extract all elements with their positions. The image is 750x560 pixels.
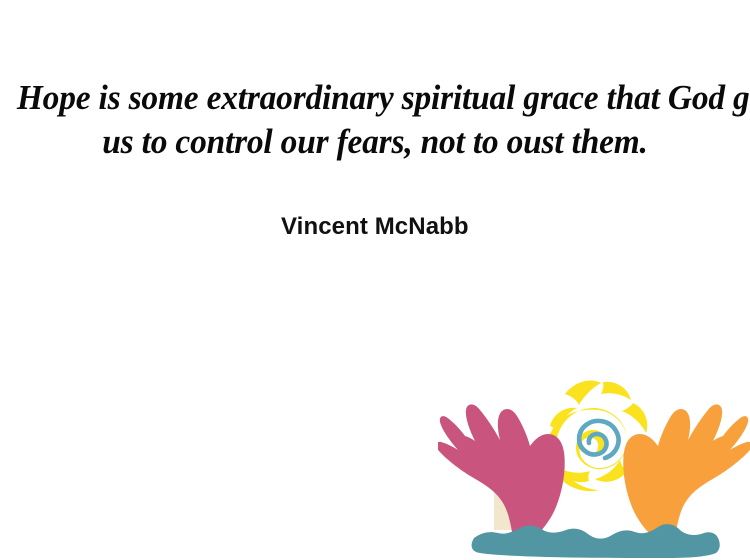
quote-author: Vincent McNabb xyxy=(281,212,469,242)
quote-text-block: Hope is some extraordinary spiritual gra… xyxy=(0,76,750,164)
hands-sun-illustration xyxy=(438,372,750,560)
quote-line-1: Hope is some extraordinary spiritual gra… xyxy=(17,76,733,120)
quote-line-2: us to control our fears, not to oust the… xyxy=(17,120,733,164)
quote-slide: Hope is some extraordinary spiritual gra… xyxy=(0,0,750,560)
